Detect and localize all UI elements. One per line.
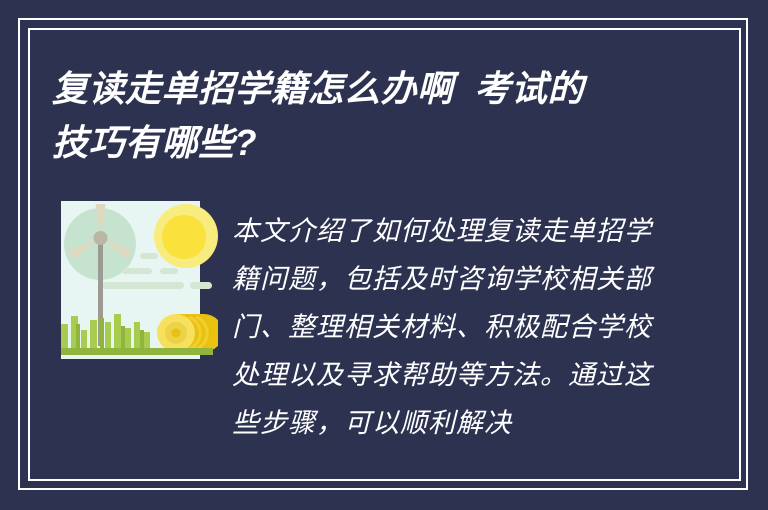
page-title: 复读走单招学籍怎么办啊 考试的 技巧有哪些? — [52, 62, 692, 170]
sun-icon — [154, 204, 218, 268]
wind-farm-illustration-svg — [50, 196, 218, 364]
article-summary-text: 本文介绍了如何处理复读走单招学籍问题，包括及时咨询学校相关部门、整理相关材料、积… — [232, 208, 658, 458]
article-cover-card: 复读走单招学籍怎么办啊 考试的 技巧有哪些? — [0, 0, 768, 510]
hay-bale-icon — [157, 314, 218, 352]
ground-strip — [61, 348, 213, 355]
wind-farm-illustration — [50, 196, 218, 364]
